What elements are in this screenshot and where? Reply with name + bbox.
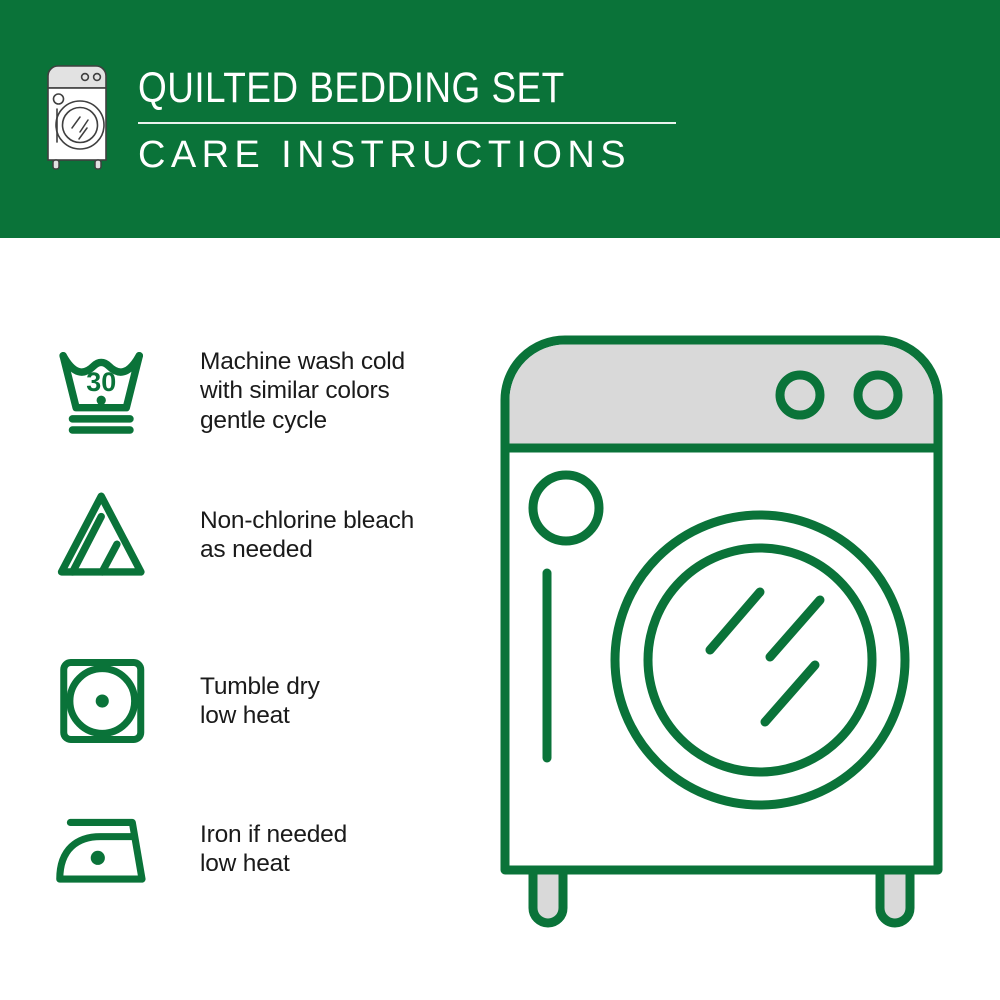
washer-leg-right <box>880 870 910 923</box>
page-title: QUILTED BEDDING SET <box>138 64 601 113</box>
care-item-text: Machine wash cold with similar colors ge… <box>200 347 405 436</box>
non-chlorine-bleach-triangle-icon <box>48 480 160 590</box>
care-instructions-page: QUILTED BEDDING SET CARE INSTRUCTIONS 30 <box>0 0 1000 1000</box>
care-item-text: Iron if needed low heat <box>200 820 347 879</box>
care-row: Non-chlorine bleach as needed <box>0 480 480 590</box>
header-content: QUILTED BEDDING SET CARE INSTRUCTIONS <box>44 62 676 177</box>
wash-tub-30-icon: 30 <box>48 336 160 446</box>
header-divider <box>138 122 676 124</box>
care-item-text: Tumble dry low heat <box>200 672 320 731</box>
front-load-washing-machine-illustration <box>495 330 965 930</box>
care-instruction-list: 30 Machine wash cold with similar colors… <box>0 238 480 1000</box>
tumble-dry-low-icon <box>48 646 160 756</box>
wash-temperature-label: 30 <box>86 367 116 397</box>
washer-control-panel <box>510 345 934 449</box>
header-text-block: QUILTED BEDDING SET CARE INSTRUCTIONS <box>138 62 676 177</box>
iron-low-heat-icon <box>48 794 160 904</box>
care-row: Iron if needed low heat <box>0 794 480 904</box>
washing-machine-icon <box>44 62 110 174</box>
care-row: 30 Machine wash cold with similar colors… <box>0 336 480 446</box>
washer-leg-left <box>533 870 563 923</box>
header-band: QUILTED BEDDING SET CARE INSTRUCTIONS <box>0 0 1000 238</box>
care-row: Tumble dry low heat <box>0 646 480 756</box>
page-subtitle: CARE INSTRUCTIONS <box>138 133 676 177</box>
care-item-text: Non-chlorine bleach as needed <box>200 506 414 565</box>
